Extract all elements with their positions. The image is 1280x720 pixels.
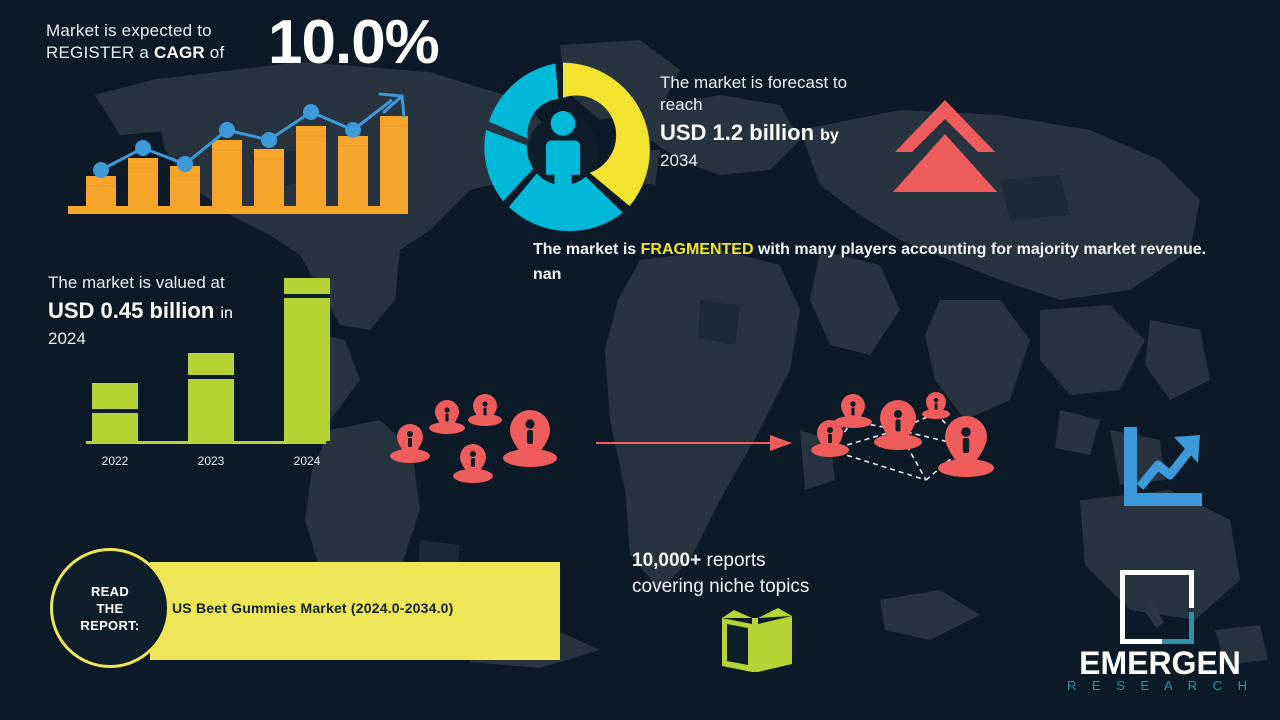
logo-subtitle: R E S E A R C H [1060,678,1260,693]
open-book-icon [718,608,796,674]
reports-subline: covering niche topics [632,574,912,600]
forecast-lead-line1: The market is forecast to [660,72,900,94]
fragmentation-pre: The market is [533,241,641,258]
report-title: US Beet Gummies Market (2024.0-2034.0) [172,600,552,616]
cagr-value: 10.0% [268,12,439,74]
cagr-lead-line1: Market is expected to [46,20,246,42]
double-chevron-up-icon [890,92,1000,200]
read-the-report-label: READ THE REPORT: [80,583,139,634]
cagr-keyword: CAGR [154,43,205,62]
forecast-lead-line2: reach [660,94,900,116]
cta-line1: READ [91,584,129,599]
right-arrow-icon [592,430,802,456]
bar-label-2023: 2023 [180,454,242,468]
forecast-block: The market is forecast to reach USD 1.2 … [660,72,900,172]
bar-2022-separator [92,409,138,413]
reports-count: 10,000+ [632,550,701,571]
bar-2022 [92,383,138,441]
market-valuation-bars: 2022 2023 2024 [60,290,340,470]
reports-count-suffix: reports [701,550,765,571]
emergen-research-logo: EMERGEN R E S E A R C H [1060,570,1260,700]
growth-trend-bars [62,82,412,222]
cagr-lead-post: of [205,43,225,62]
line-chart-arrow-icon [1120,425,1206,511]
cta-line3: REPORT: [80,618,139,633]
cta-line2: THE [97,601,124,616]
cagr-lead-pre: REGISTER a [46,43,154,62]
bar-2023 [188,353,234,441]
reports-block: 10,000+ reports covering niche topics [632,548,912,600]
bar-label-2024: 2024 [276,454,338,468]
bar-2024-separator [284,294,330,298]
bar-2023-separator [188,375,234,379]
forecast-value: USD 1.2 billion by [660,119,900,150]
forecast-year: 2034 [660,150,900,172]
fragmentation-highlight: FRAGMENTED [641,241,754,258]
bar-2024 [284,278,330,441]
connected-map-pin-network-icon [808,388,1008,500]
market-share-donut [468,55,658,245]
map-pin-cluster-icon [385,388,585,498]
bar-label-2022: 2022 [84,454,146,468]
forecast-value-text: USD 1.2 billion [660,120,814,145]
read-the-report-button[interactable]: READ THE REPORT: [50,548,170,668]
cagr-block: Market is expected to REGISTER a CAGR of… [46,20,466,64]
forecast-value-suffix: by [820,127,839,144]
square-frame-icon [1120,570,1194,644]
reports-count-line: 10,000+ reports [632,548,912,574]
infographic-canvas: Market is expected to REGISTER a CAGR of… [0,0,1280,720]
cagr-lead-line2: REGISTER a CAGR of [46,42,246,64]
logo-name: EMERGEN [1060,646,1260,680]
bar-chart-baseline [86,441,326,444]
fragmentation-statement: The market is FRAGMENTED with many playe… [533,237,1223,287]
